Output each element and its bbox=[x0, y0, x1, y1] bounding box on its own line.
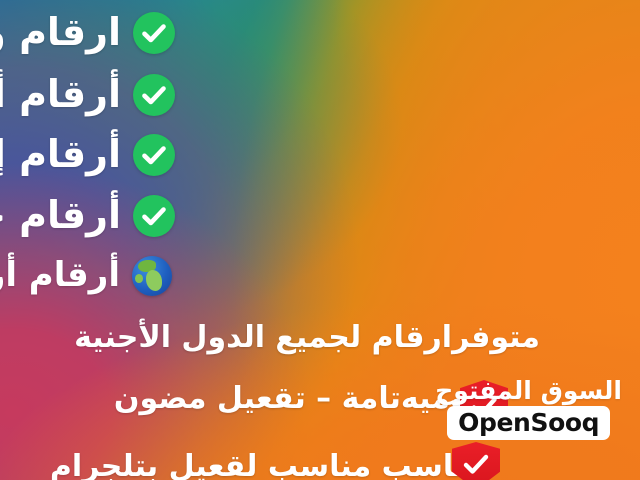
ad-line-5-text: أرقام أردنية أخى bbox=[0, 258, 120, 294]
ad-line-2-text: أرقام أمريكة bbox=[0, 75, 121, 115]
ad-line-3-text: أرقام إمراتية bbox=[0, 135, 121, 175]
green-check-icon bbox=[133, 195, 175, 237]
ad-line-1: ارقام واتساب لجميع الدول bbox=[0, 12, 175, 54]
ad-line-4-text: أرقام خلجية bbox=[0, 196, 121, 236]
ad-line-6: متوفرارقام لجميع الدول الأجنية bbox=[80, 322, 540, 354]
ad-line-1-text: ارقام واتساب لجميع الدول bbox=[0, 13, 121, 53]
opensooq-watermark: السوق المفتوح OpenSooq bbox=[435, 378, 622, 440]
ad-image-canvas: ارقام واتساب لجميع الدول أرقام أمريكة bbox=[0, 0, 640, 480]
ad-line-2: أرقام أمريكة bbox=[0, 74, 175, 116]
ad-line-4: أرقام خلجية bbox=[0, 195, 175, 237]
ad-line-3: أرقام إمراتية bbox=[0, 134, 175, 176]
green-check-icon bbox=[133, 74, 175, 116]
watermark-arabic-text: السوق المفتوح bbox=[435, 378, 622, 403]
ad-line-6-text: متوفرارقام لجميع الدول الأجنية bbox=[74, 322, 540, 354]
ad-line-7: يوميه‌تامة – تقعيل مضون bbox=[60, 383, 480, 415]
red-check-icon bbox=[452, 442, 500, 480]
ad-line-8: مناسب مناسب لقعيل بتلجرام bbox=[55, 451, 485, 480]
green-check-icon bbox=[133, 12, 175, 54]
watermark-latin-box: OpenSooq bbox=[447, 406, 610, 440]
ad-line-8-text: مناسب مناسب لقعيل بتلجرام bbox=[50, 451, 485, 480]
watermark-latin-text: OpenSooq bbox=[458, 410, 599, 435]
globe-icon bbox=[132, 256, 172, 296]
green-check-icon bbox=[133, 134, 175, 176]
ad-line-5: أرقام أردنية أخى bbox=[0, 256, 172, 296]
ad-line-7-text: يوميه‌تامة – تقعيل مضون bbox=[114, 383, 480, 415]
